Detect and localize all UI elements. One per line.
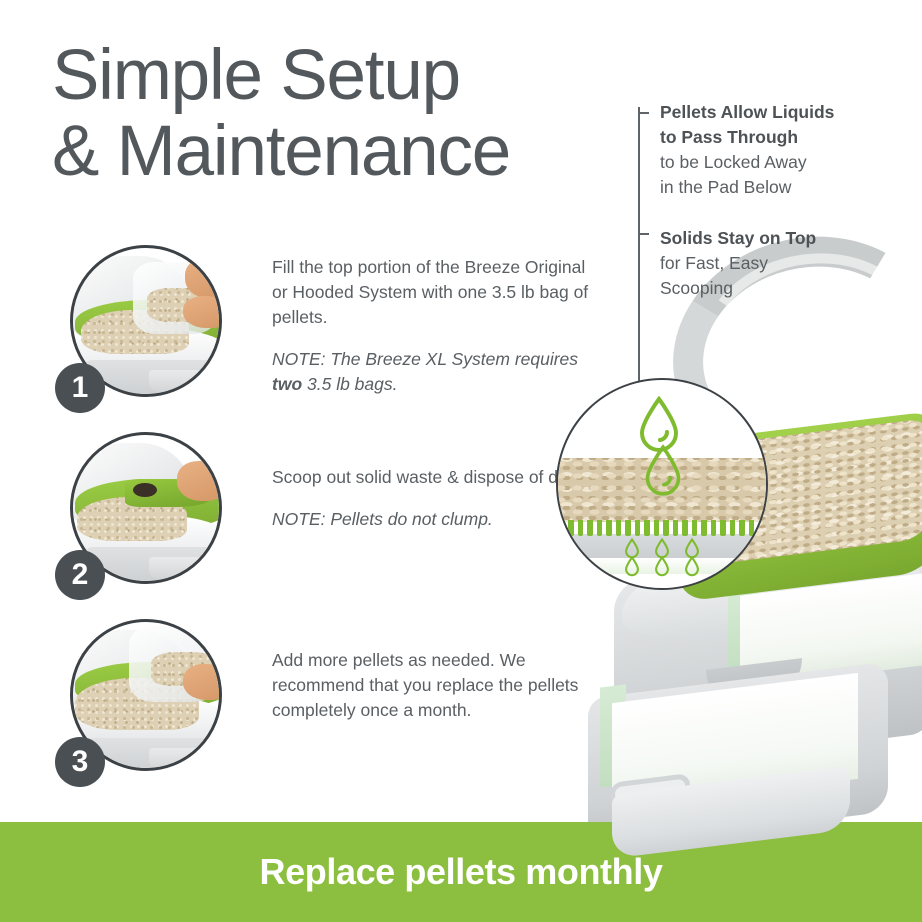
callout-2-bold-line-1: Solids Stay on Top xyxy=(660,226,900,251)
grate-tooth xyxy=(587,520,593,536)
step-2-text: Scoop out solid waste & dispose of daily… xyxy=(272,465,592,532)
hand-shape xyxy=(185,258,219,298)
grate-tooth xyxy=(711,520,717,536)
step-1-note: NOTE: The Breeze XL System requires two … xyxy=(272,347,592,397)
grate-tooth xyxy=(682,520,688,536)
grate-tooth xyxy=(606,520,612,536)
water-droplet-icon xyxy=(642,444,684,498)
litter-box-drawer-shape xyxy=(149,557,201,579)
infographic-root: Simple Setup & Maintenance 1 Fill the to… xyxy=(0,0,922,922)
grate-tooth xyxy=(616,520,622,536)
hand-shape xyxy=(183,664,219,700)
grate-tooth xyxy=(625,520,631,536)
step-2-body: Scoop out solid waste & dispose of daily… xyxy=(272,465,592,490)
step-number-badge: 1 xyxy=(55,363,105,413)
grate-tooth xyxy=(749,520,755,536)
grate-tooth xyxy=(654,520,660,536)
grate-tooth xyxy=(673,520,679,536)
callout-1-bold-line-2: to Pass Through xyxy=(660,125,900,150)
grate-tooth xyxy=(730,520,736,536)
callout-solids-stay-on-top: Solids Stay on Top for Fast, Easy Scoopi… xyxy=(638,226,900,301)
liquid-pass-through-detail xyxy=(556,378,768,590)
page-title: Simple Setup & Maintenance xyxy=(52,38,510,190)
inset-grate-shape xyxy=(568,520,754,536)
step-1-note-prefix: NOTE: The Breeze XL System requires xyxy=(272,349,578,369)
grate-tooth xyxy=(597,520,603,536)
grate-tooth xyxy=(663,520,669,536)
callout-2-plain-line-1: for Fast, Easy xyxy=(660,251,900,276)
grate-tooth xyxy=(720,520,726,536)
grate-tooth xyxy=(739,520,745,536)
water-droplet-icon xyxy=(684,556,700,577)
callout-2-plain-line-2: Scooping xyxy=(660,276,900,301)
callout-1-plain-line-2: in the Pad Below xyxy=(660,175,900,200)
step-2-note: NOTE: Pellets do not clump. xyxy=(272,507,592,532)
hand-lower-shape xyxy=(183,296,219,328)
solid-waste-shape xyxy=(133,483,157,497)
hand-shape xyxy=(177,461,219,501)
grate-tooth xyxy=(635,520,641,536)
litter-box-drawer-shape xyxy=(149,370,201,392)
step-1-note-suffix: 3.5 lb bags. xyxy=(302,374,397,394)
grate-tooth xyxy=(568,520,574,536)
water-droplet-icon xyxy=(624,556,640,577)
callout-1-plain-line-1: to be Locked Away xyxy=(660,150,900,175)
step-3-text: Add more pellets as needed. We recommend… xyxy=(272,648,592,723)
grate-tooth xyxy=(692,520,698,536)
step-1-text: Fill the top portion of the Breeze Origi… xyxy=(272,255,592,397)
step-number-badge: 2 xyxy=(55,550,105,600)
grate-tooth xyxy=(578,520,584,536)
callout-1-bold-line-1: Pellets Allow Liquids xyxy=(660,100,900,125)
step-3-body: Add more pellets as needed. We recommend… xyxy=(272,648,592,723)
step-1-body: Fill the top portion of the Breeze Origi… xyxy=(272,255,592,330)
step-number-badge: 3 xyxy=(55,737,105,787)
callout-list: Pellets Allow Liquids to Pass Through to… xyxy=(638,100,900,301)
callout-pellets-allow-liquids: Pellets Allow Liquids to Pass Through to… xyxy=(638,100,900,200)
grate-tooth xyxy=(701,520,707,536)
water-droplet-icon xyxy=(654,556,670,577)
litter-box-drawer-shape xyxy=(149,748,201,768)
grate-tooth xyxy=(644,520,650,536)
banner-text: Replace pellets monthly xyxy=(260,851,663,893)
step-1-note-bold: two xyxy=(272,374,302,394)
